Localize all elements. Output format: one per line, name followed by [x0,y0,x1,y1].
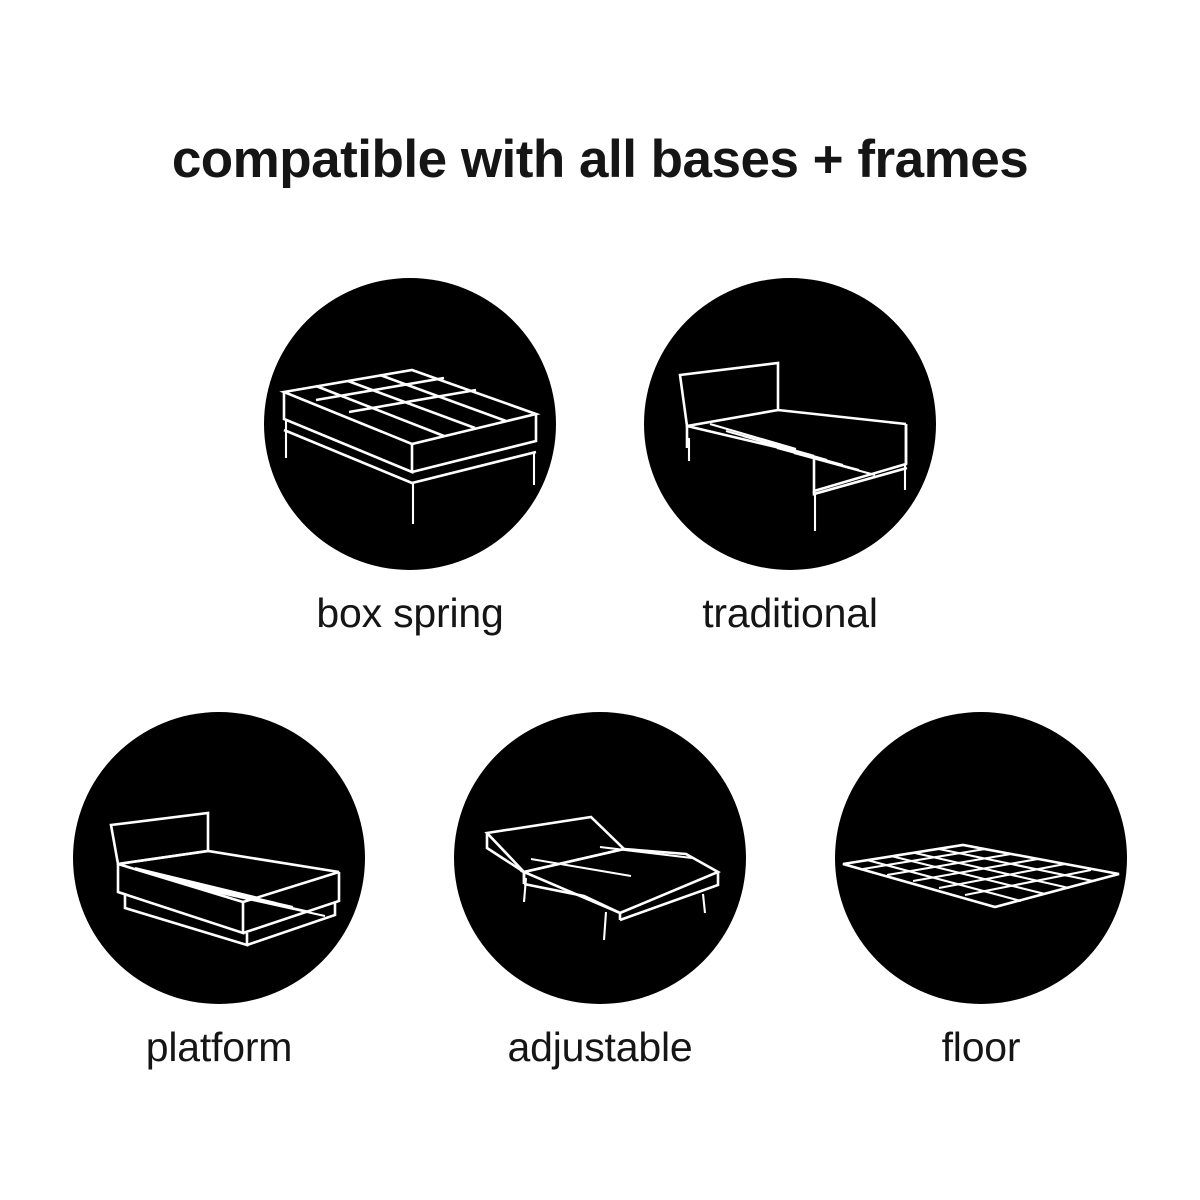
floor-slats-icon [835,712,1127,1004]
base-option-platform[interactable]: platform [29,712,410,1069]
base-option-adjustable[interactable]: adjustable [410,712,791,1069]
base-option-label: adjustable [508,1026,693,1069]
base-option-label: traditional [702,592,878,635]
platform-bed-icon [73,712,365,1004]
box-spring-bed-icon [264,278,556,570]
base-option-box-spring[interactable]: box spring [220,278,600,635]
base-option-traditional[interactable]: traditional [600,278,980,635]
page-title: compatible with all bases + frames [0,133,1200,186]
adjustable-base-icon [454,712,746,1004]
traditional-bed-frame-icon [644,278,936,570]
bases-row-top: box spring [0,278,1200,635]
base-option-label: platform [146,1026,293,1069]
compatibility-infographic: compatible with all bases + frames [0,0,1200,1200]
base-option-floor[interactable]: floor [791,712,1172,1069]
bases-row-bottom: platform [0,712,1200,1069]
base-option-label: box spring [316,592,503,635]
base-option-label: floor [942,1026,1021,1069]
